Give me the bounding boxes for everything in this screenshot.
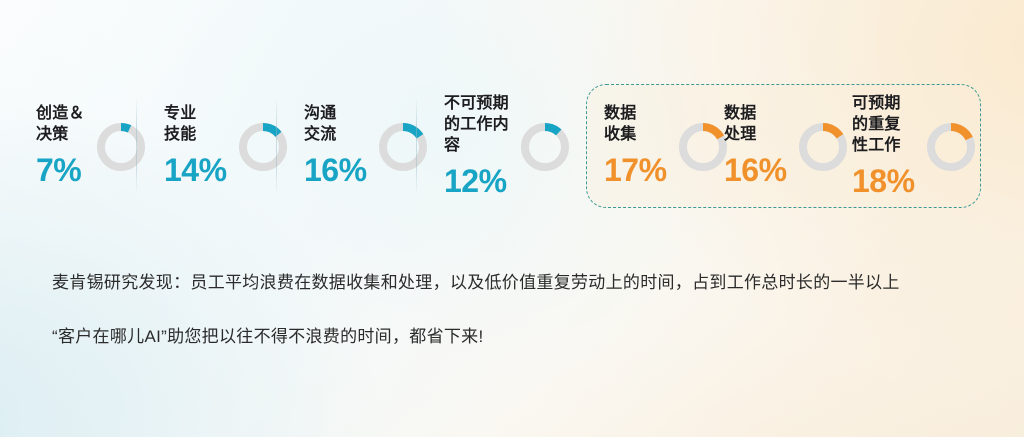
donut-chart-predictable-repetitive-work [925,121,977,173]
stat-text-block: 沟通交流16% [304,103,367,189]
stat-label-line: 性工作 [852,135,915,156]
infographic-canvas: 创造＆决策7%专业技能14%沟通交流16%不可预期的工作内容12% 数据收集17… [0,0,1024,437]
donut-chart-predictable-repetitive-work-wrapper [925,121,977,173]
stat-text-block: 创造＆决策7% [36,103,85,189]
stat-cell: 数据收集17% [586,81,716,211]
captions-block: 麦肯锡研究发现：员工平均浪费在数据收集和处理，以及低价值重复劳动上的时间，占到工… [52,268,982,352]
stat-label-line: 容 [444,135,509,156]
donut-track [101,127,141,167]
donut-chart-data-processing [797,121,849,173]
stat-label-line: 决策 [36,124,85,145]
donut-chart-creation-decision-wrapper [95,121,147,173]
stat-cell: 数据处理16% [716,81,844,211]
stat-text-block: 数据收集17% [604,103,667,189]
stat-cell: 创造＆决策7% [0,81,140,211]
stat-value: 14% [164,151,227,189]
stat-text-block: 数据处理16% [724,103,787,189]
stat-value: 7% [36,151,85,189]
stat-text-block: 专业技能14% [164,103,227,189]
donut-chart-creation-decision [95,121,147,173]
stat-label-line: 技能 [164,124,227,145]
donut-chart-unpredictable-work-wrapper [519,121,571,173]
stat-cell: 专业技能14% [140,81,280,211]
stat-label-line: 交流 [304,124,367,145]
stats-strip-orange: 数据收集17%数据处理16%可预期的重复性工作18% [586,78,981,214]
donut-chart-unpredictable-work [519,121,571,173]
donut-track [525,127,565,167]
stat-label-line: 数据 [724,103,787,124]
stat-value: 16% [724,151,787,189]
stat-label-line: 创造＆ [36,103,85,124]
stat-value: 16% [304,151,367,189]
stat-value: 18% [852,162,915,200]
caption-paragraph-1: 麦肯锡研究发现：员工平均浪费在数据收集和处理，以及低价值重复劳动上的时间，占到工… [52,268,952,298]
stat-label-line: 的工作内 [444,114,509,135]
stat-value: 12% [444,162,509,200]
stat-cell: 可预期的重复性工作18% [844,81,980,211]
stat-label-line: 数据 [604,103,667,124]
stat-label-line: 处理 [724,124,787,145]
caption-paragraph-2: “客户在哪儿AI”助您把以往不得不浪费的时间，都省下来! [52,322,952,352]
stat-label-line: 沟通 [304,103,367,124]
stat-label-line: 收集 [604,124,667,145]
stat-label-line: 的重复 [852,114,915,135]
stat-label-line: 专业 [164,103,227,124]
stat-label-line: 不可预期 [444,93,509,114]
stat-text-block: 不可预期的工作内容12% [444,93,509,200]
stat-cell: 沟通交流16% [280,81,420,211]
stat-text-block: 可预期的重复性工作18% [852,93,915,200]
stat-label-line: 可预期 [852,93,915,114]
stat-cell: 不可预期的工作内容12% [420,81,580,211]
stat-value: 17% [604,151,667,189]
donut-chart-data-processing-wrapper [797,121,849,173]
